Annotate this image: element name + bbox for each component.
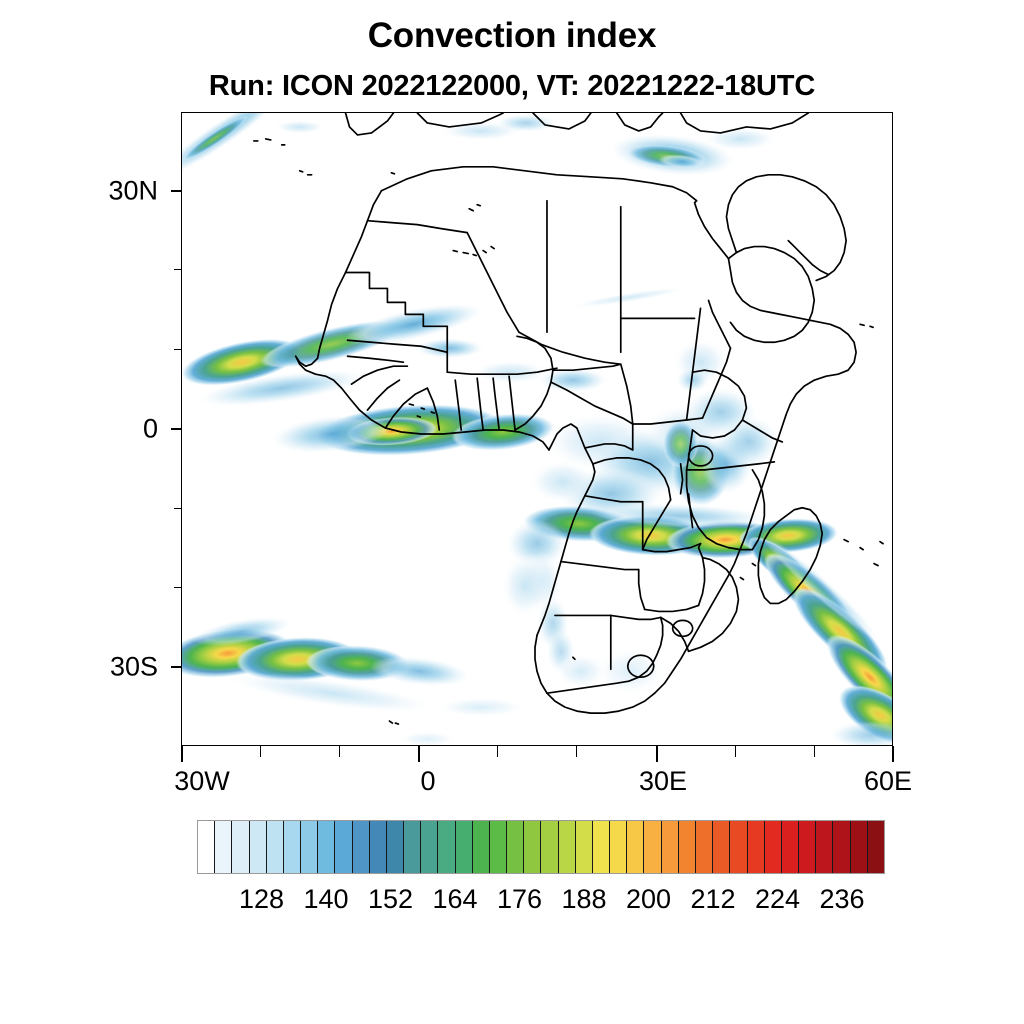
colorbar-swatch (387, 821, 404, 873)
colorbar-swatch (765, 821, 782, 873)
colorbar-swatch (232, 821, 249, 873)
map-panel (181, 112, 893, 746)
colorbar-swatch (816, 821, 833, 873)
colorbar-swatch (696, 821, 713, 873)
colorbar-swatch (868, 821, 884, 873)
colorbar-swatch (267, 821, 284, 873)
colorbar-tick-label: 152 (368, 884, 413, 915)
colorbar-swatch (456, 821, 473, 873)
colorbar-swatch (610, 821, 627, 873)
xtick-30w (181, 746, 183, 762)
map-canvas (182, 113, 892, 745)
colorbar-swatch (284, 821, 301, 873)
xtick-0 (418, 746, 420, 762)
page-title: Convection index (0, 16, 1024, 56)
colorbar-tick-label: 224 (755, 884, 800, 915)
colorbar-swatch (627, 821, 644, 873)
colorbar-swatch (198, 821, 215, 873)
colorbar-swatch (541, 821, 558, 873)
colorbar-swatch (713, 821, 730, 873)
colorbar-swatch (851, 821, 868, 873)
ytick-20s (174, 587, 182, 588)
colorbar-swatch (559, 821, 576, 873)
colorbar-swatch (490, 821, 507, 873)
colorbar-swatch (748, 821, 765, 873)
ytick-30n (171, 190, 182, 192)
xtick-label-30e: 30E (639, 766, 687, 797)
colorbar-swatch (644, 821, 661, 873)
colorbar-swatch (593, 821, 610, 873)
colorbar-swatch (799, 821, 816, 873)
xtick-label-30w: 30W (174, 766, 230, 797)
xtick-50e (814, 746, 815, 757)
xtick-30e (656, 746, 658, 762)
colorbar-swatch (250, 821, 267, 873)
colorbar-swatch (730, 821, 747, 873)
colorbar-swatch (335, 821, 352, 873)
colorbar-tick-label: 164 (432, 884, 477, 915)
colorbar-tick-label: 140 (303, 884, 348, 915)
xtick-60e (892, 746, 894, 762)
colorbar-tick-label: 188 (561, 884, 606, 915)
colorbar-swatch (370, 821, 387, 873)
xtick-20e (576, 746, 577, 757)
colorbar-swatch (353, 821, 370, 873)
colorbar-swatch (524, 821, 541, 873)
xtick-20w (260, 746, 261, 757)
xtick-40e (735, 746, 736, 757)
colorbar-swatch (421, 821, 438, 873)
ytick-20n (174, 269, 182, 270)
xtick-10w (339, 746, 340, 757)
colorbar-swatch (301, 821, 318, 873)
page-subtitle: Run: ICON 2022122000, VT: 20221222-18UTC (0, 70, 1024, 103)
colorbar-swatch (576, 821, 593, 873)
colorbar-tick-label: 176 (497, 884, 542, 915)
ytick-10n (174, 349, 182, 350)
colorbar-swatch (404, 821, 421, 873)
colorbar-swatch (833, 821, 850, 873)
colorbar-tick-label: 200 (626, 884, 671, 915)
convection-field (182, 113, 892, 745)
xtick-label-0: 0 (420, 766, 435, 797)
ytick-10s (174, 508, 182, 509)
ytick-30s (171, 666, 182, 668)
colorbar-tick-label: 128 (239, 884, 284, 915)
colorbar-swatch (438, 821, 455, 873)
xtick-label-60e: 60E (864, 766, 912, 797)
ytick-label-0: 0 (143, 414, 158, 445)
colorbar-swatch (662, 821, 679, 873)
convection-index-figure: Convection index Run: ICON 2022122000, V… (0, 0, 1024, 1024)
ytick-label-30n: 30N (108, 176, 158, 207)
colorbar-swatch (215, 821, 232, 873)
colorbar-swatch (679, 821, 696, 873)
colorbar-swatch (507, 821, 524, 873)
colorbar-swatch (782, 821, 799, 873)
ytick-0 (171, 428, 182, 430)
colorbar (197, 820, 885, 874)
ytick-label-30s: 30S (110, 652, 158, 683)
colorbar-swatch (473, 821, 490, 873)
colorbar-swatch (318, 821, 335, 873)
colorbar-tick-label: 212 (690, 884, 735, 915)
xtick-10e (497, 746, 498, 757)
colorbar-tick-label: 236 (819, 884, 864, 915)
